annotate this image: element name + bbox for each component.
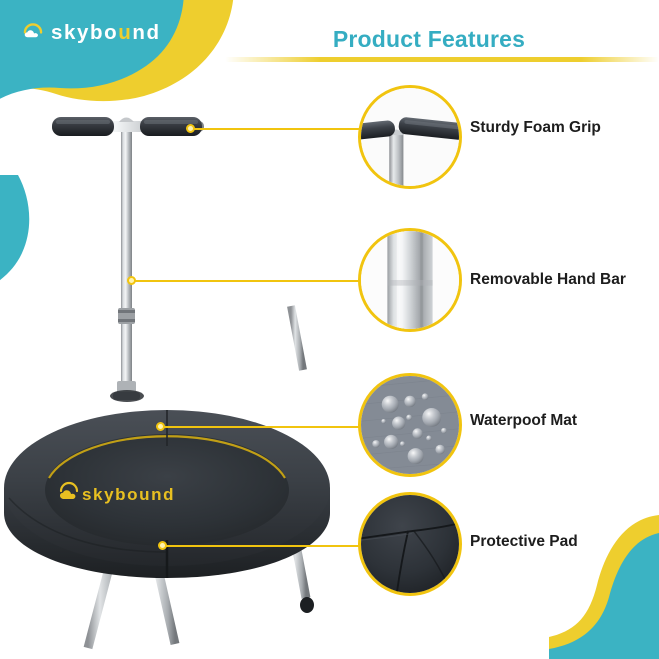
callout-label-sturdy-foam-grip: Sturdy Foam Grip — [470, 119, 601, 137]
brand-logo: skybound — [22, 22, 161, 44]
product-features-infographic: skybound Product Features — [0, 0, 659, 659]
logo-text-part1: skybo — [51, 21, 118, 44]
chrome-pole-closeup-image — [361, 231, 459, 329]
leader-line-4 — [162, 545, 366, 547]
title-underline — [225, 57, 659, 62]
leader-line-1 — [190, 128, 366, 130]
callout-circle-waterpoof-mat — [358, 373, 462, 477]
leg-back-right — [291, 306, 303, 370]
callout-label-waterpoof-mat: Waterpoof Mat — [470, 412, 577, 430]
page-title: Product Features — [304, 26, 554, 53]
leg-cap-right — [300, 597, 314, 613]
padded-fabric-image — [361, 495, 459, 593]
leader-dot-3 — [156, 422, 165, 431]
callout-circle-protective-pad — [358, 492, 462, 596]
mat-logo-text: skybound — [82, 485, 175, 504]
decorative-shape-bottom-right — [549, 509, 659, 659]
logo-text-part2: nd — [132, 21, 160, 44]
leader-dot-2 — [127, 276, 136, 285]
leader-line-3 — [160, 426, 366, 428]
brand-logo-text: skybound — [51, 23, 161, 44]
callout-circle-removable-hand-bar — [358, 228, 462, 332]
water-droplets-image — [361, 376, 459, 474]
callout-label-protective-pad: Protective Pad — [470, 533, 578, 551]
handle-pole — [113, 130, 140, 400]
callout-label-removable-hand-bar: Removable Hand Bar — [470, 271, 626, 289]
foam-grip-left — [52, 117, 114, 136]
sun-cloud-icon — [22, 22, 44, 44]
leader-dot-4 — [158, 541, 167, 550]
t-bar-handle-closeup-image — [361, 88, 459, 186]
product-illustration: skybound — [0, 78, 345, 659]
callout-circle-sturdy-foam-grip — [358, 85, 462, 189]
leader-line-2 — [131, 280, 366, 282]
logo-text-highlight: u — [118, 21, 132, 44]
leader-dot-1 — [186, 124, 195, 133]
